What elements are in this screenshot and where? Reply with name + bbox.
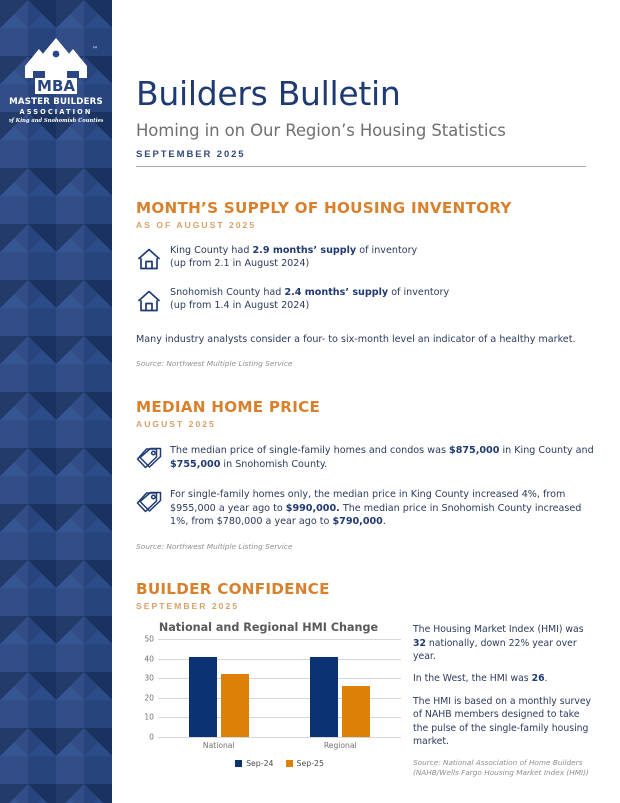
section-title-median-price: MEDIAN HOME PRICE — [136, 398, 596, 416]
list-item: Snohomish County had 2.4 months’ supply … — [136, 286, 596, 319]
masthead: Builders Bulletin Homing in on Our Regio… — [136, 0, 596, 167]
list-item: King County had 2.9 months’ supply of in… — [136, 244, 596, 277]
bc-paragraph: In the West, the HMI was 26. — [413, 672, 596, 685]
chart-y-tick: 30 — [144, 674, 154, 683]
header-divider — [136, 166, 586, 167]
section-title-builder-confidence: BUILDER CONFIDENCE — [136, 580, 596, 598]
supply-1-bold: 2.4 months’ supply — [284, 287, 388, 298]
bc-0-p1: The Housing Market Index (HMI) was — [413, 624, 584, 635]
chart-y-tick: 50 — [144, 635, 154, 644]
bc-1-p2: . — [545, 673, 548, 684]
supply-0-pre: King County had — [170, 245, 253, 256]
bc-0-b1: 32 — [413, 638, 426, 649]
bulletin-page: ™ MBA MASTER BUILDERS ASSOCIATION of Kin… — [0, 0, 620, 803]
chart-legend-label: Sep-25 — [297, 759, 324, 768]
chart-bar — [310, 657, 338, 737]
bc-paragraph: The Housing Market Index (HMI) was 32 na… — [413, 623, 596, 663]
list-item-text: King County had 2.9 months’ supply of in… — [170, 244, 417, 271]
chart-legend-swatch — [286, 760, 293, 767]
section-subtitle-builder-confidence: SEPTEMBER 2025 — [136, 601, 596, 611]
price-1-b1: $990,000. — [286, 503, 340, 514]
chart-y-axis: 50403020100 — [136, 639, 158, 737]
bc-2-p1: The HMI is based on a monthly survey of … — [413, 696, 591, 747]
median-price-source: Source: Northwest Multiple Listing Servi… — [136, 542, 596, 552]
page-title: Builders Bulletin — [136, 76, 596, 112]
chart-bar — [189, 657, 217, 737]
bc-1-b1: 26 — [532, 673, 545, 684]
price-1-p3: . — [383, 516, 386, 527]
mba-monogram: MBA — [37, 77, 75, 95]
chart-legend-item[interactable]: Sep-25 — [286, 759, 324, 768]
mba-logo: ™ MBA MASTER BUILDERS ASSOCIATION of Kin… — [9, 30, 103, 126]
builder-confidence-source: Source: National Association of Home Bui… — [413, 758, 596, 778]
issue-date: SEPTEMBER 2025 — [136, 149, 596, 160]
section-subtitle-supply: AS OF AUGUST 2025 — [136, 220, 596, 230]
bc-source-line2: (NAHB/Wells Fargo Housing Market Index (… — [413, 768, 589, 777]
chart-bar — [221, 674, 249, 737]
supply-0-bold: 2.9 months’ supply — [253, 245, 357, 256]
chart-legend-item[interactable]: Sep-24 — [235, 759, 273, 768]
price-1-b2: $790,000 — [332, 516, 382, 527]
bc-paragraph: The HMI is based on a monthly survey of … — [413, 695, 596, 749]
sidebar: ™ MBA MASTER BUILDERS ASSOCIATION of Kin… — [0, 0, 112, 803]
builder-confidence-text: The Housing Market Index (HMI) was 32 na… — [413, 621, 596, 777]
supply-note: Many industry analysts consider a four- … — [136, 333, 596, 347]
chart-y-tick: 0 — [149, 733, 154, 742]
section-months-supply: MONTH’S SUPPLY OF HOUSING INVENTORY AS O… — [136, 199, 596, 370]
chart-y-tick: 40 — [144, 654, 154, 663]
logo-line-master-builders: MASTER BUILDERS — [9, 97, 103, 107]
chart-legend: Sep-24Sep-25 — [158, 759, 401, 768]
chart-x-label: National — [158, 741, 280, 750]
house-icon — [136, 286, 170, 319]
builder-confidence-columns: National and Regional HMI Change 5040302… — [136, 621, 596, 777]
list-item: For single-family homes only, the median… — [136, 488, 596, 529]
trademark-glyph: ™ — [92, 46, 98, 53]
supply-1-line2: (up from 1.4 in August 2024) — [170, 300, 309, 311]
supply-source: Source: Northwest Multiple Listing Servi… — [136, 359, 596, 369]
supply-0-line2: (up from 2.1 in August 2024) — [170, 258, 309, 269]
section-title-supply: MONTH’S SUPPLY OF HOUSING INVENTORY — [136, 199, 596, 217]
list-item-text: Snohomish County had 2.4 months’ supply … — [170, 286, 449, 313]
price-0-p1: The median price of single-family homes … — [170, 445, 449, 456]
house-icon — [136, 244, 170, 277]
chart-gridline — [158, 737, 401, 738]
content-column: Builders Bulletin Homing in on Our Regio… — [136, 0, 596, 803]
price-0-p2: in King County and — [499, 445, 593, 456]
bc-1-p1: In the West, the HMI was — [413, 673, 532, 684]
chart-bar-group — [280, 639, 402, 737]
bc-0-p2: nationally, down 22% year over year. — [413, 638, 577, 662]
section-builder-confidence: BUILDER CONFIDENCE SEPTEMBER 2025 Nation… — [136, 580, 596, 777]
list-item-text: For single-family homes only, the median… — [170, 488, 596, 529]
chart-y-tick: 10 — [144, 713, 154, 722]
price-0-b1: $875,000 — [449, 445, 499, 456]
price-0-b2: $755,000 — [170, 459, 220, 470]
chart-x-axis-labels: NationalRegional — [158, 741, 401, 750]
chart-legend-label: Sep-24 — [246, 759, 273, 768]
chart-legend-swatch — [235, 760, 242, 767]
hmi-chart: National and Regional HMI Change 5040302… — [136, 621, 401, 777]
supply-1-pre: Snohomish County had — [170, 287, 284, 298]
page-subtitle: Homing in on Our Region’s Housing Statis… — [136, 121, 596, 140]
section-subtitle-median-price: AUGUST 2025 — [136, 419, 596, 429]
price-tag-icon — [136, 488, 170, 519]
chart-plot-area: 50403020100 — [136, 639, 401, 737]
price-0-p3: in Snohomish County. — [220, 459, 327, 470]
chart-plot — [158, 639, 401, 737]
mba-logo-icon: ™ MBA MASTER BUILDERS ASSOCIATION of Kin… — [9, 30, 103, 126]
section-median-home-price: MEDIAN HOME PRICE AUGUST 2025 The median… — [136, 398, 596, 552]
chart-y-tick: 20 — [144, 693, 154, 702]
logo-line-counties: of King and Snohomish Counties — [9, 118, 103, 124]
bc-source-line1: Source: National Association of Home Bui… — [413, 758, 582, 767]
chart-bar-group — [158, 639, 280, 737]
supply-0-post: of inventory — [356, 245, 417, 256]
chart-bar — [342, 686, 370, 737]
chart-title: National and Regional HMI Change — [136, 621, 401, 634]
price-tag-icon — [136, 444, 170, 475]
supply-1-post: of inventory — [388, 287, 449, 298]
chart-x-label: Regional — [280, 741, 402, 750]
chart-bars — [158, 639, 401, 737]
list-item: The median price of single-family homes … — [136, 444, 596, 475]
logo-line-association: ASSOCIATION — [20, 108, 93, 116]
list-item-text: The median price of single-family homes … — [170, 444, 596, 471]
